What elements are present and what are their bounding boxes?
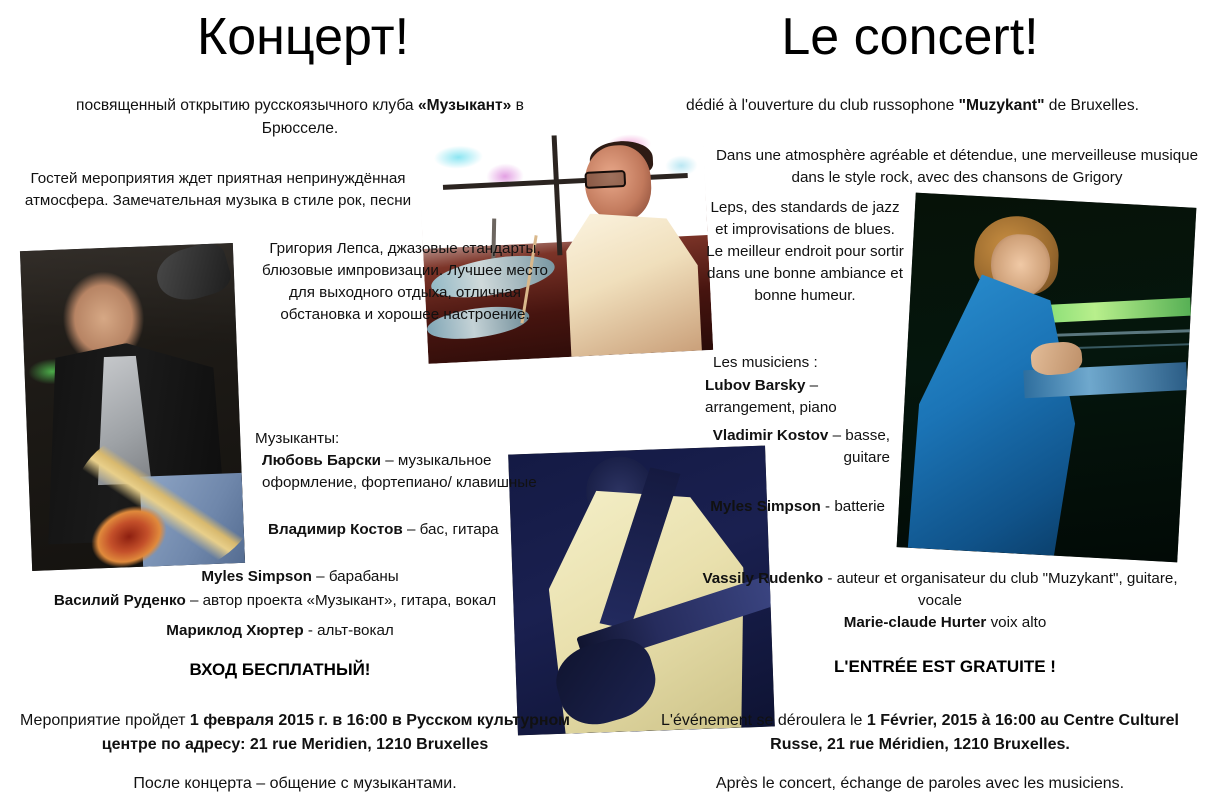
event-details-ru-lead: Мероприятие пройдет: [20, 712, 190, 729]
club-name-russian: «Музыкант»: [418, 97, 511, 114]
musician-sep-ru-1: –: [381, 452, 398, 469]
intro-paragraph-french-continued: Leps, des standards de jazz et improvisa…: [705, 197, 905, 307]
musician-role-fr-5: voix alto: [991, 614, 1047, 631]
musician-sep-fr-2: –: [828, 427, 845, 444]
musician-entry-russian-1: Любовь Барски – музыкальное оформление, …: [262, 450, 562, 494]
musician-entry-french-2: Vladimir Kostov – basse, guitare: [700, 425, 890, 469]
musician-role-ru-4: автор проекта «Музыкант», гитара, вокал: [203, 592, 497, 609]
musician-name-ru-2: Владимир Костов: [268, 521, 403, 538]
after-concert-note-french: Après le concert, échange de paroles ave…: [640, 772, 1200, 796]
musician-role-fr-3: batterie: [834, 498, 885, 515]
event-details-french: L'événement se déroulera le 1 Février, 2…: [640, 709, 1200, 757]
musician-role-fr-2: basse, guitare: [844, 427, 890, 466]
event-details-fr-lead: L'événement se déroulera le: [661, 712, 867, 729]
event-details-russian: Мероприятие пройдет 1 февраля 2015 г. в …: [10, 709, 580, 757]
musician-role-ru-2: бас, гитара: [420, 521, 499, 538]
photo-background-pianist: [897, 193, 1197, 563]
musician-sep-fr-4: -: [823, 570, 837, 587]
musician-entry-french-3: Myles Simpson - batterie: [700, 496, 885, 518]
page-title-french: Le concert!: [607, 10, 1213, 65]
subtitle-french: dédié à l'ouverture du club russophone "…: [640, 95, 1185, 118]
musician-name-fr-5: Marie-claude Hurter: [844, 614, 987, 631]
musician-name-ru-1: Любовь Барски: [262, 452, 381, 469]
subtitle-russian-part1: посвященный открытию русскоязычного клуб…: [76, 97, 418, 114]
musician-name-ru-4: Василий Руденко: [54, 592, 186, 609]
musicians-heading-russian: Музыканты:: [255, 428, 555, 450]
club-name-french: "Muzykant": [959, 97, 1045, 114]
intro-paragraph-russian-continued: Григория Лепса, джазовые стандарты, блюз…: [255, 238, 555, 326]
subtitle-russian: посвященный открытию русскоязычного клуб…: [40, 95, 560, 140]
musician-name-fr-2: Vladimir Kostov: [713, 427, 829, 444]
subtitle-french-part2: de Bruxelles.: [1044, 97, 1138, 114]
guitarist-with-red-les-paul-photo: [20, 243, 245, 571]
free-entry-badge-russian: ВХОД БЕСПЛАТНЫЙ!: [40, 660, 520, 680]
pianist-in-blue-dress-photo: [897, 193, 1197, 563]
musician-entry-russian-2: Владимир Костов – бас, гитара: [268, 519, 563, 541]
musician-name-fr-4: Vassily Rudenko: [702, 570, 823, 587]
musician-role-ru-3: барабаны: [329, 568, 399, 585]
piano-string-rail-1: [1038, 329, 1195, 337]
musician-entry-french-4: Vassily Rudenko - auteur et organisateur…: [690, 568, 1190, 612]
musician-role-fr-4: auteur et organisateur du club "Muzykant…: [837, 570, 1178, 609]
musician-entry-french-1: Lubov Barsky – arrangement, piano: [705, 375, 900, 419]
microphone-shape: [152, 243, 236, 308]
musician-entry-russian-4: Василий Руденко – автор проекта «Музыкан…: [10, 590, 540, 612]
subtitle-french-part1: dédié à l'ouverture du club russophone: [686, 97, 959, 114]
musician-name-fr-1: Lubov Barsky: [705, 377, 805, 394]
musician-entry-russian-5: Мариклод Хюртер - альт-вокал: [40, 620, 520, 642]
musician-sep-ru-4: –: [186, 592, 203, 609]
musician-name-fr-3: Myles Simpson: [710, 498, 821, 515]
musician-sep-fr-1: –: [805, 377, 818, 394]
concert-poster: Концерт! Le concert!: [0, 0, 1213, 798]
musician-entry-russian-3: Myles Simpson – барабаны: [60, 566, 540, 588]
after-concert-note-russian: После концерта – общение с музыкантами.: [10, 772, 580, 796]
musician-role-ru-5: альт-вокал: [317, 622, 394, 639]
intro-paragraph-french: Dans une atmosphère agréable et détendue…: [712, 145, 1202, 189]
musician-role-fr-1: arrangement, piano: [705, 399, 837, 416]
musician-sep-ru-3: –: [312, 568, 329, 585]
photo-背景: [20, 243, 245, 571]
free-entry-badge-french: L'ENTRÉE EST GRATUITE !: [700, 657, 1190, 677]
musician-name-ru-5: Мариклод Хюртер: [166, 622, 303, 639]
eyeglasses-shape: [585, 170, 627, 189]
musician-sep-ru-2: –: [403, 521, 420, 538]
musician-name-ru-3: Myles Simpson: [201, 568, 312, 585]
page-title-russian: Концерт!: [0, 10, 606, 65]
musicians-heading-french: Les musiciens :: [713, 352, 913, 374]
musician-entry-french-5: Marie-claude Hurter voix alto: [700, 612, 1190, 634]
musician-sep-ru-5: -: [304, 622, 318, 639]
musician-sep-fr-3: -: [821, 498, 835, 515]
intro-paragraph-russian: Гостей мероприятия ждет приятная неприну…: [8, 168, 428, 212]
